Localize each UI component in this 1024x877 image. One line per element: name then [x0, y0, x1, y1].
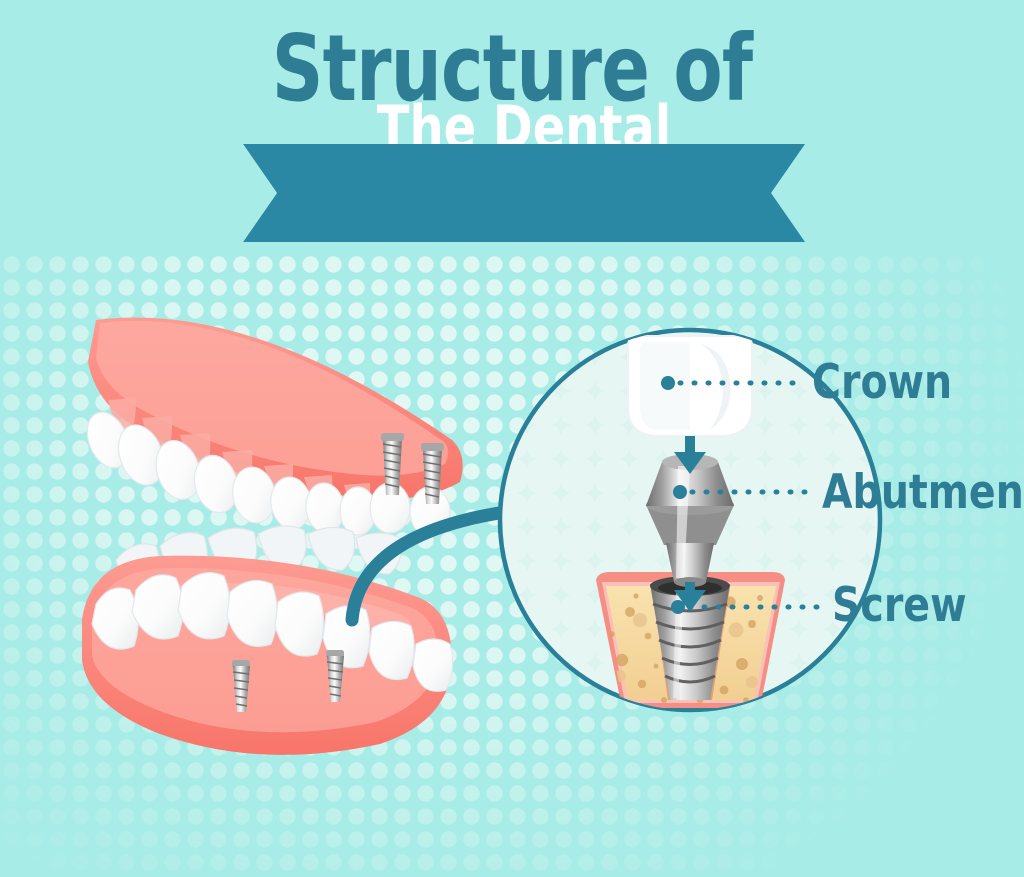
screw-marker-dot	[671, 600, 685, 614]
crown-marker-dot	[661, 376, 675, 390]
lower-jaw-denture	[82, 526, 453, 755]
page-title: Structure of	[0, 22, 1024, 116]
abutment-marker-dot	[673, 485, 687, 499]
title-ribbon	[243, 144, 805, 242]
upper-jaw-denture	[80, 318, 463, 538]
implant-crown	[628, 336, 752, 436]
implant-illustration	[0, 0, 1024, 877]
callout-label-abutment: Abutment	[822, 465, 1024, 520]
callout-label-crown: Crown	[812, 355, 979, 410]
callout-label-screw: Screw	[832, 578, 992, 633]
dental-implant-infographic: Structure of The Dental Implant	[0, 0, 1024, 877]
title-line-1: Structure of	[113, 22, 912, 116]
